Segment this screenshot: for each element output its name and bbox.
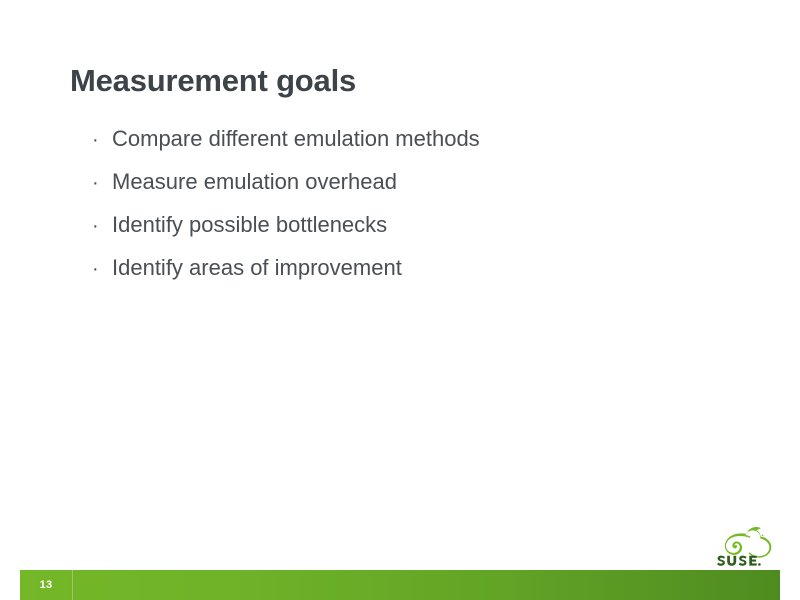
list-item-label: Identify possible bottlenecks (112, 212, 387, 238)
list-item-label: Identify areas of improvement (112, 255, 402, 281)
list-item: · Measure emulation overhead (92, 169, 732, 212)
list-item: · Compare different emulation methods (92, 126, 732, 169)
page-number: 13 (20, 570, 72, 600)
footer-divider (72, 570, 73, 600)
page-title: Measurement goals (70, 63, 356, 99)
slide-canvas: Measurement goals · Compare different em… (0, 0, 800, 600)
bullet-dot-icon: · (92, 216, 112, 236)
suse-chameleon-icon (716, 524, 782, 568)
list-item: · Identify possible bottlenecks (92, 212, 732, 255)
list-item: · Identify areas of improvement (92, 255, 732, 298)
suse-wordmark (717, 556, 761, 566)
list-item-label: Compare different emulation methods (112, 126, 480, 152)
bullet-dot-icon: · (92, 130, 112, 150)
suse-logo (716, 524, 782, 568)
bullet-list: · Compare different emulation methods · … (92, 126, 732, 298)
footer-bar: 13 (20, 570, 780, 600)
bullet-dot-icon: · (92, 259, 112, 279)
bullet-dot-icon: · (92, 173, 112, 193)
list-item-label: Measure emulation overhead (112, 169, 397, 195)
